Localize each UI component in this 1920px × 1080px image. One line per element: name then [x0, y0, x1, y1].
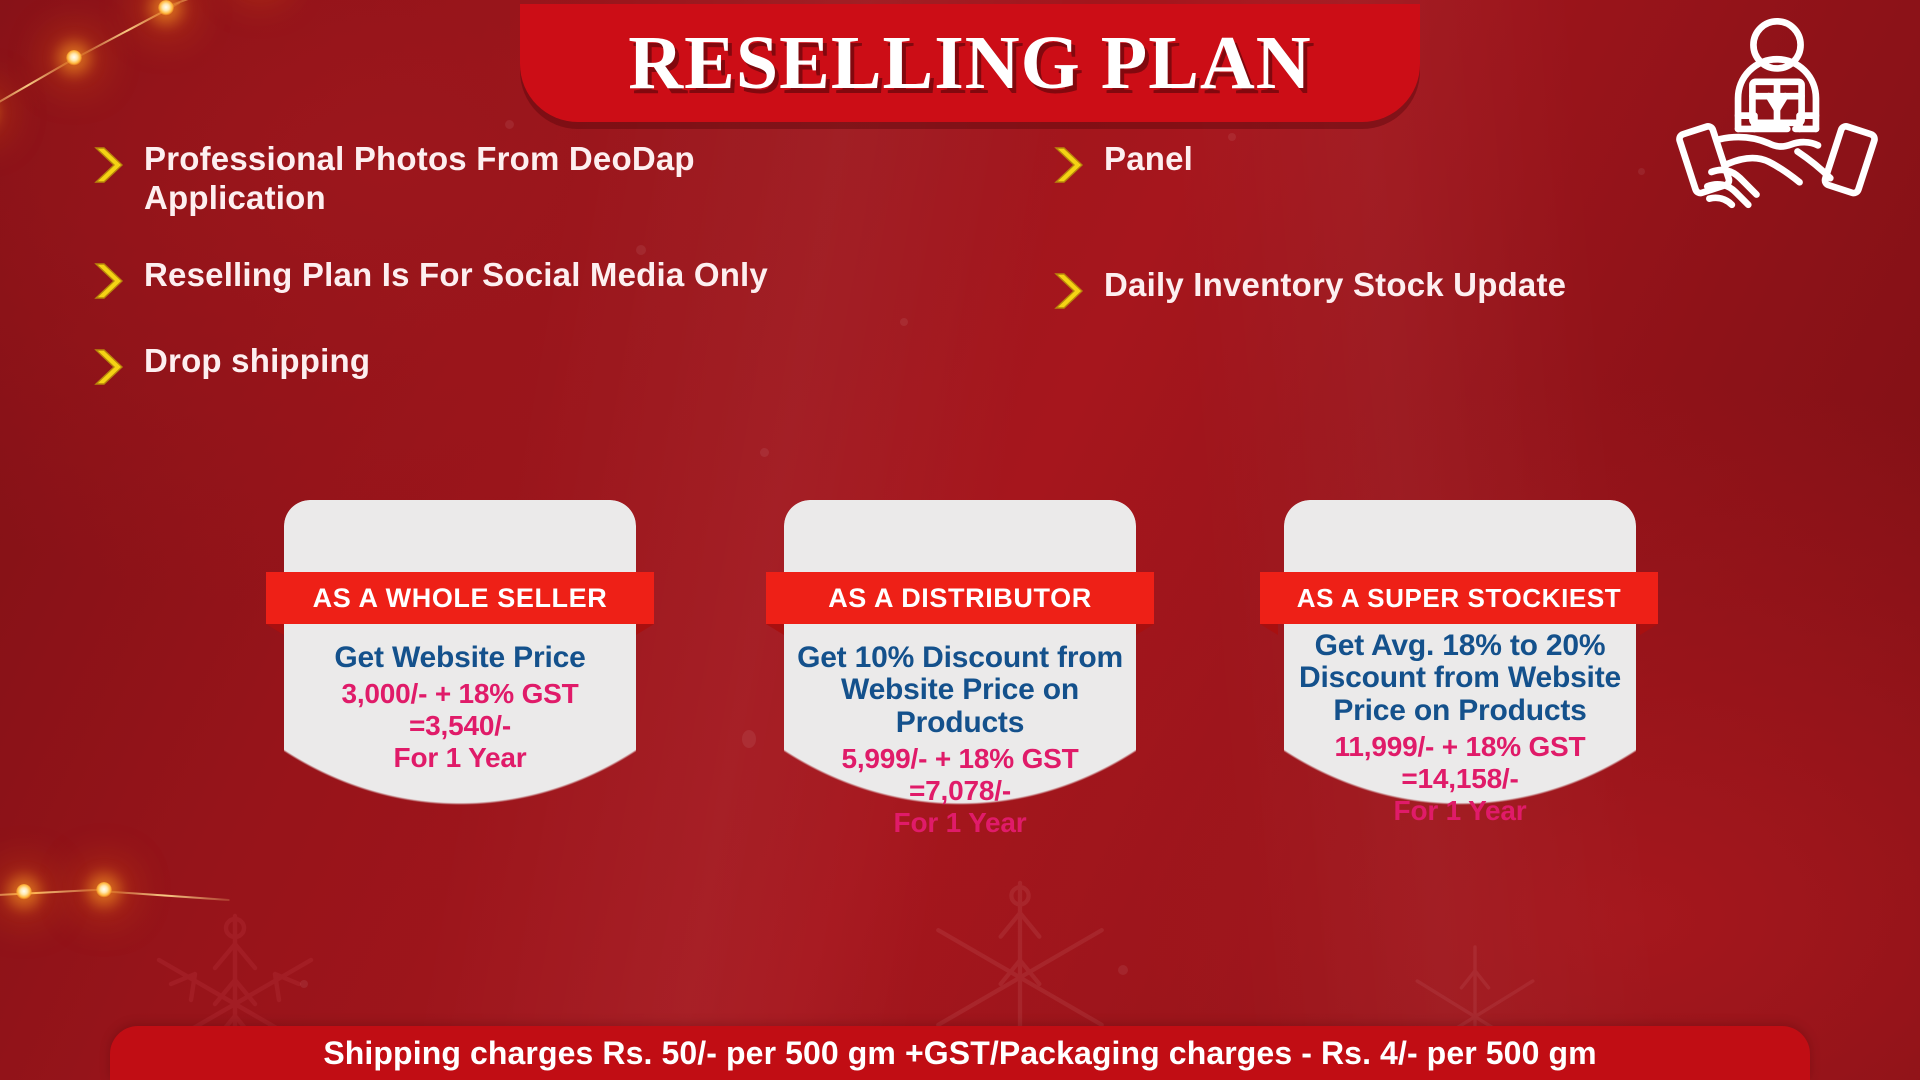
ribbon-fold-right — [1136, 624, 1154, 635]
ribbon-fold-right — [636, 624, 654, 635]
plan-price-duration: For 1 Year — [796, 807, 1124, 839]
feature-label: Reselling Plan Is For Social Media Only — [144, 256, 768, 295]
chevron-bullet-icon — [92, 260, 130, 302]
ribbon-fold-right — [1640, 624, 1658, 635]
feature-column-left: Professional Photos From DeoDap Applicat… — [92, 140, 852, 426]
plan-price-duration: For 1 Year — [1296, 795, 1624, 827]
shipping-note-text: Shipping charges Rs. 50/- per 500 gm +GS… — [323, 1035, 1596, 1072]
plan-price-duration: For 1 Year — [296, 742, 624, 774]
plan-card-distributor[interactable]: AS A DISTRIBUTOR Get 10% Discount from W… — [784, 500, 1136, 970]
plan-heading: Get 10% Discount from Website Price on P… — [796, 642, 1124, 739]
plan-ribbon-label: AS A DISTRIBUTOR — [828, 583, 1092, 614]
plan-ribbon-label: AS A SUPER STOCKIEST — [1297, 583, 1622, 614]
feature-item: Professional Photos From DeoDap Applicat… — [92, 140, 852, 218]
plan-card-super-stockiest[interactable]: AS A SUPER STOCKIEST Get Avg. 18% to 20%… — [1284, 500, 1636, 970]
ribbon-fold-left — [266, 624, 284, 635]
feature-label: Panel — [1104, 140, 1193, 179]
ribbon-fold-left — [766, 624, 784, 635]
chevron-bullet-icon — [92, 346, 130, 388]
plan-ribbon-label: AS A WHOLE SELLER — [313, 583, 608, 614]
plan-price-line: 3,000/- + 18% GST — [296, 678, 624, 710]
plan-price-total: =7,078/- — [796, 775, 1124, 807]
feature-item: Drop shipping — [92, 342, 852, 388]
chevron-bullet-icon — [1052, 270, 1090, 312]
plan-card-list: AS A WHOLE SELLER Get Website Price 3,00… — [0, 500, 1920, 980]
page-title: RESELLING PLAN — [520, 4, 1420, 122]
string-lights-top — [0, 0, 290, 160]
chevron-bullet-icon — [92, 144, 130, 186]
feature-label: Daily Inventory Stock Update — [1104, 266, 1566, 305]
feature-column-right: Panel Daily Inventory Stock Update — [1052, 140, 1752, 350]
plan-card-whole-seller[interactable]: AS A WHOLE SELLER Get Website Price 3,00… — [284, 500, 636, 970]
plan-card-text: Get Website Price 3,000/- + 18% GST =3,5… — [296, 642, 624, 774]
feature-item: Daily Inventory Stock Update — [1052, 266, 1752, 312]
plan-card-text: Get Avg. 18% to 20% Discount from Websit… — [1296, 630, 1624, 827]
ribbon-fold-left — [1260, 624, 1278, 635]
plan-price-line: 11,999/- + 18% GST — [1296, 731, 1624, 763]
plan-price-total: =3,540/- — [296, 710, 624, 742]
plan-price-total: =14,158/- — [1296, 763, 1624, 795]
plan-ribbon: AS A DISTRIBUTOR — [766, 572, 1154, 624]
feature-label: Drop shipping — [144, 342, 370, 381]
plan-ribbon: AS A WHOLE SELLER — [266, 572, 654, 624]
page-title-banner: RESELLING PLAN — [520, 4, 1420, 122]
plan-card-text: Get 10% Discount from Website Price on P… — [796, 642, 1124, 839]
poster-canvas: RESELLING PLAN — [0, 0, 1920, 1080]
plan-ribbon: AS A SUPER STOCKIEST — [1260, 572, 1658, 624]
chevron-bullet-icon — [1052, 144, 1090, 186]
plan-price-line: 5,999/- + 18% GST — [796, 743, 1124, 775]
shipping-note-banner: Shipping charges Rs. 50/- per 500 gm +GS… — [110, 1026, 1810, 1080]
feature-item: Panel — [1052, 140, 1752, 186]
plan-heading: Get Website Price — [296, 642, 624, 674]
feature-item: Reselling Plan Is For Social Media Only — [92, 256, 852, 302]
plan-heading: Get Avg. 18% to 20% Discount from Websit… — [1296, 630, 1624, 727]
feature-label: Professional Photos From DeoDap Applicat… — [144, 140, 852, 218]
